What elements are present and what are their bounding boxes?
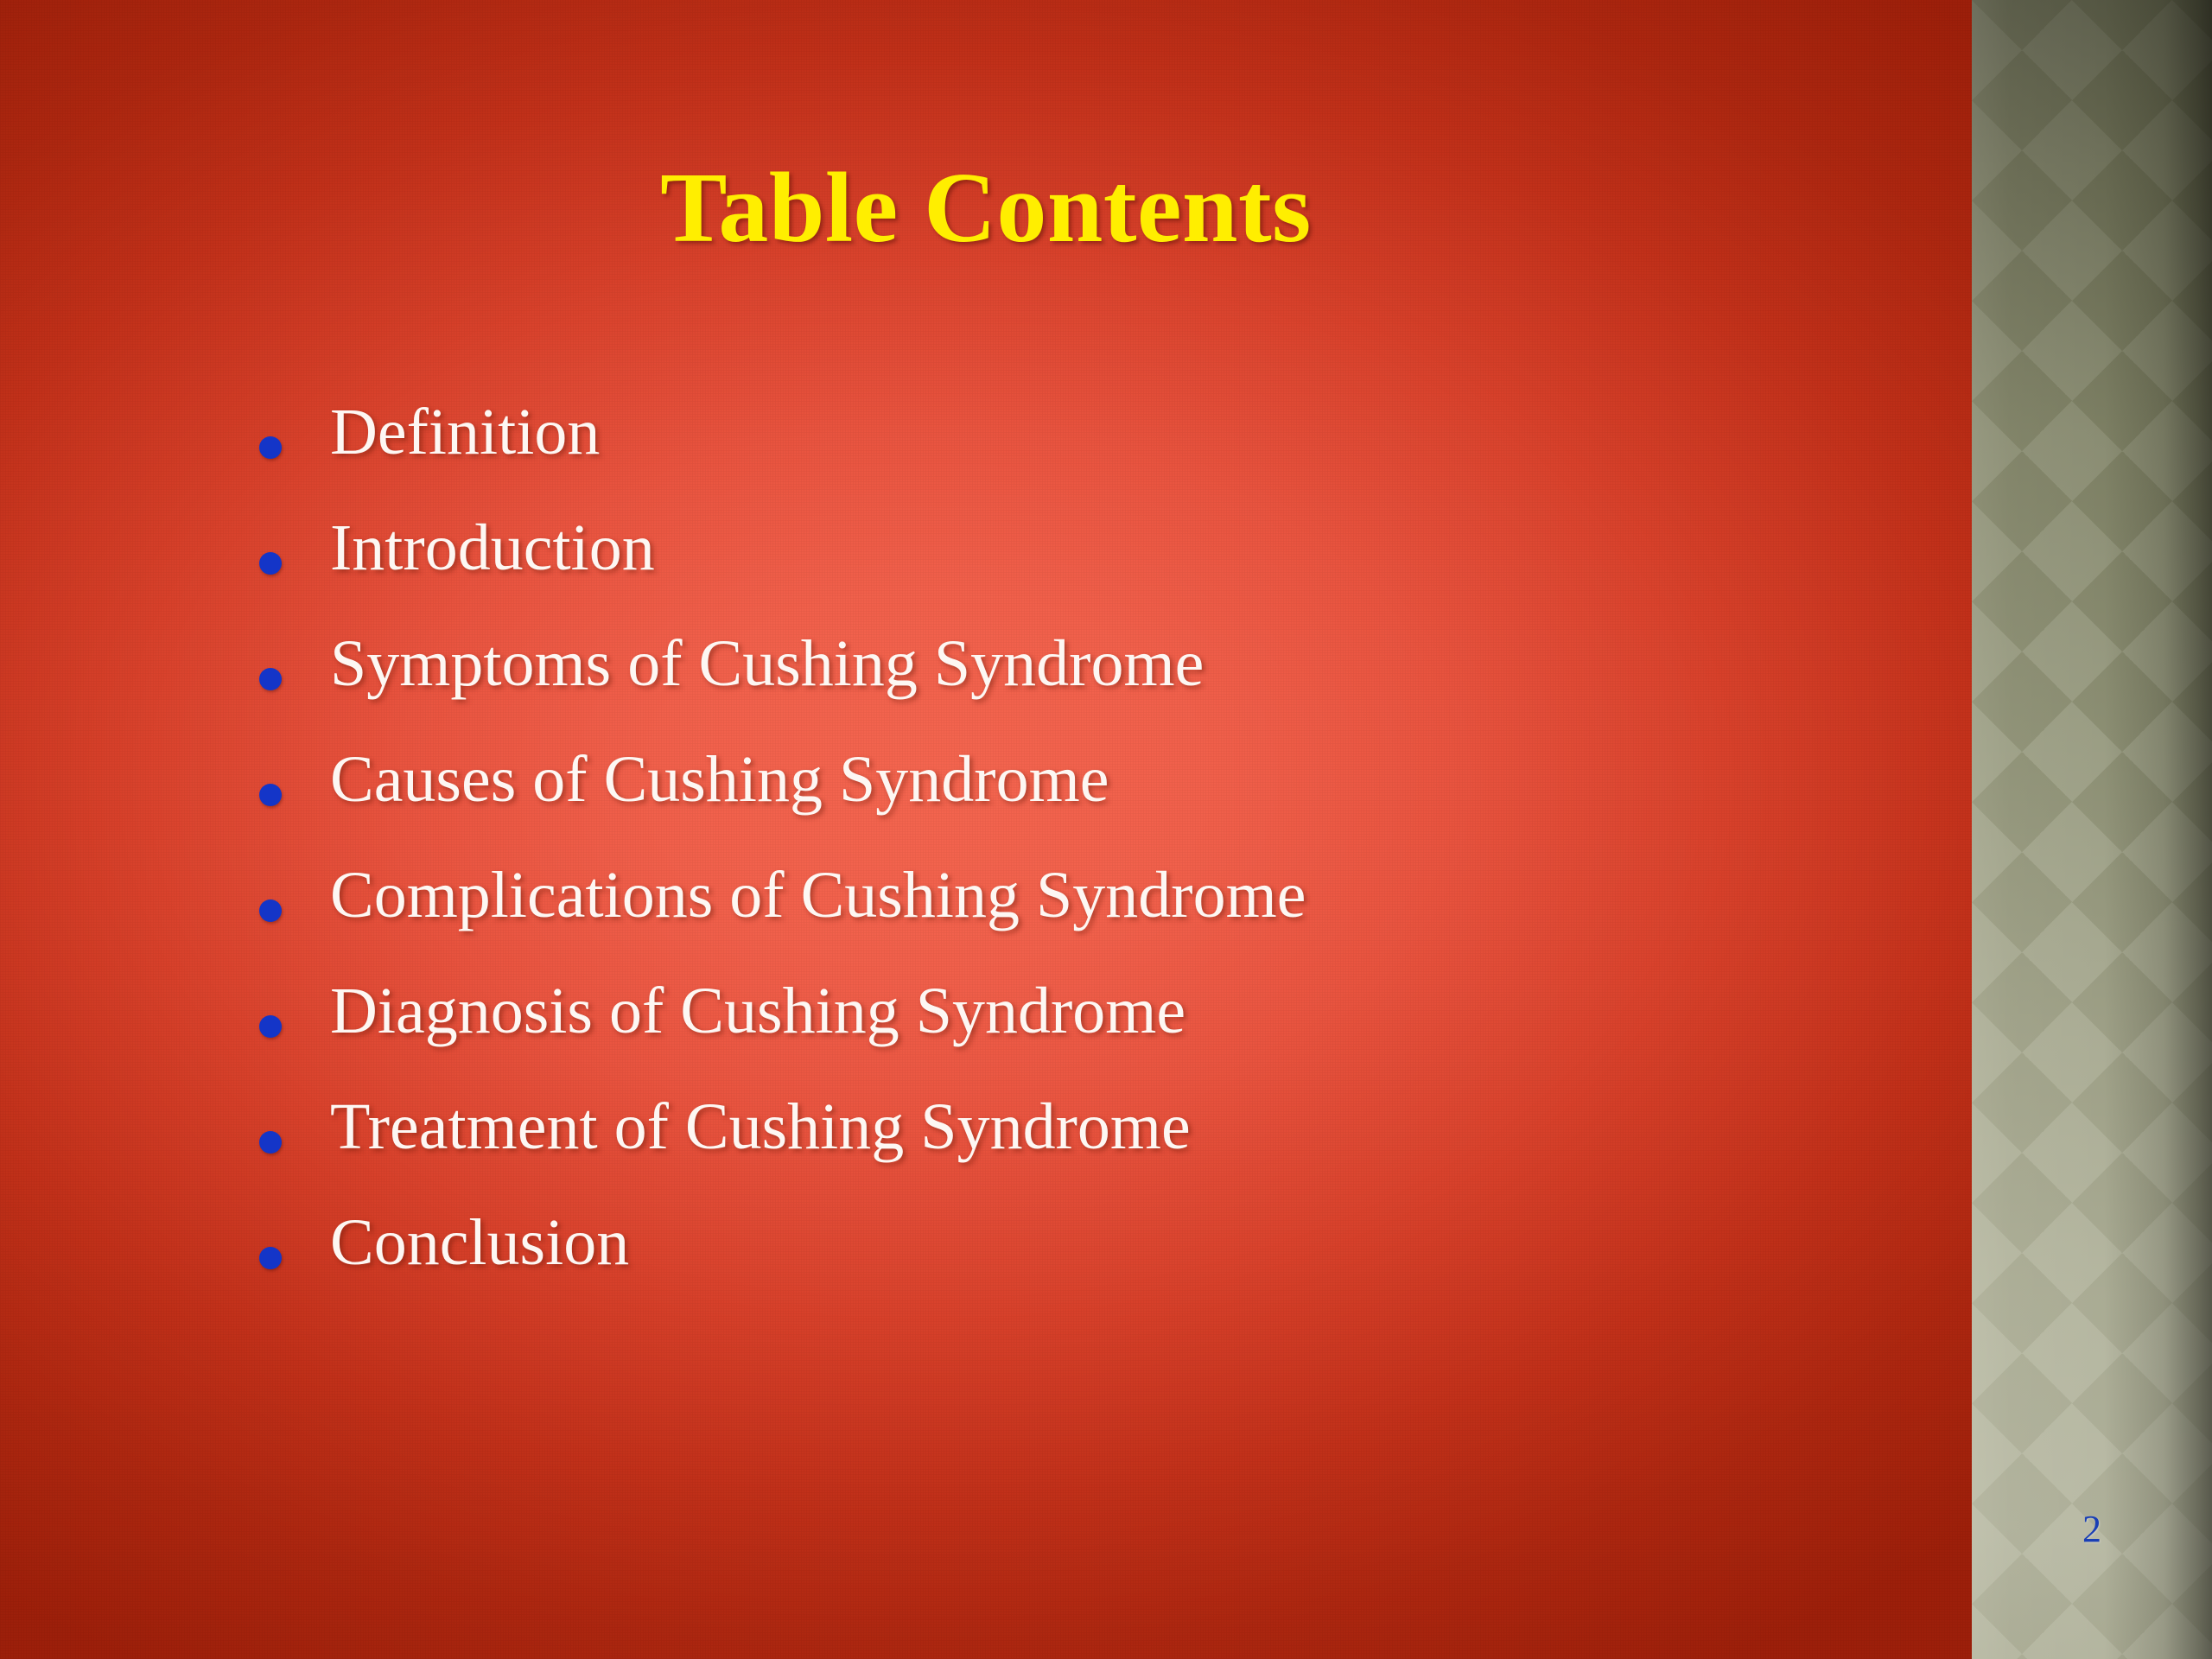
- list-item: Treatment of Cushing Syndrome: [259, 1094, 1858, 1210]
- bullet-dot-icon: [259, 1247, 282, 1269]
- table-of-contents-list: DefinitionIntroductionSymptoms of Cushin…: [259, 399, 1858, 1325]
- list-item-label: Complications of Cushing Syndrome: [330, 862, 1306, 928]
- page-number: 2: [1972, 1510, 2212, 1548]
- list-item-label: Symptoms of Cushing Syndrome: [330, 631, 1204, 696]
- list-item-label: Treatment of Cushing Syndrome: [330, 1094, 1191, 1160]
- list-item: Symptoms of Cushing Syndrome: [259, 631, 1858, 747]
- list-item: Definition: [259, 399, 1858, 515]
- list-item: Conclusion: [259, 1210, 1858, 1325]
- bullet-dot-icon: [259, 1131, 282, 1154]
- list-item-label: Diagnosis of Cushing Syndrome: [330, 978, 1185, 1044]
- panel-edge-shading: [1972, 0, 2212, 1659]
- list-item-label: Conclusion: [330, 1210, 629, 1275]
- list-item: Diagnosis of Cushing Syndrome: [259, 978, 1858, 1094]
- presentation-slide: Table Contents DefinitionIntroductionSym…: [0, 0, 2212, 1659]
- list-item-label: Causes of Cushing Syndrome: [330, 747, 1109, 812]
- list-item-label: Definition: [330, 399, 600, 465]
- bullet-dot-icon: [259, 436, 282, 459]
- bullet-dot-icon: [259, 552, 282, 575]
- list-item: Complications of Cushing Syndrome: [259, 862, 1858, 978]
- list-item: Introduction: [259, 515, 1858, 631]
- bullet-dot-icon: [259, 668, 282, 690]
- decorative-side-panel: 2: [1972, 0, 2212, 1659]
- bullet-dot-icon: [259, 784, 282, 806]
- bullet-dot-icon: [259, 1015, 282, 1038]
- list-item-label: Introduction: [330, 515, 655, 581]
- bullet-dot-icon: [259, 899, 282, 922]
- list-item: Causes of Cushing Syndrome: [259, 747, 1858, 862]
- slide-title: Table Contents: [0, 158, 1972, 258]
